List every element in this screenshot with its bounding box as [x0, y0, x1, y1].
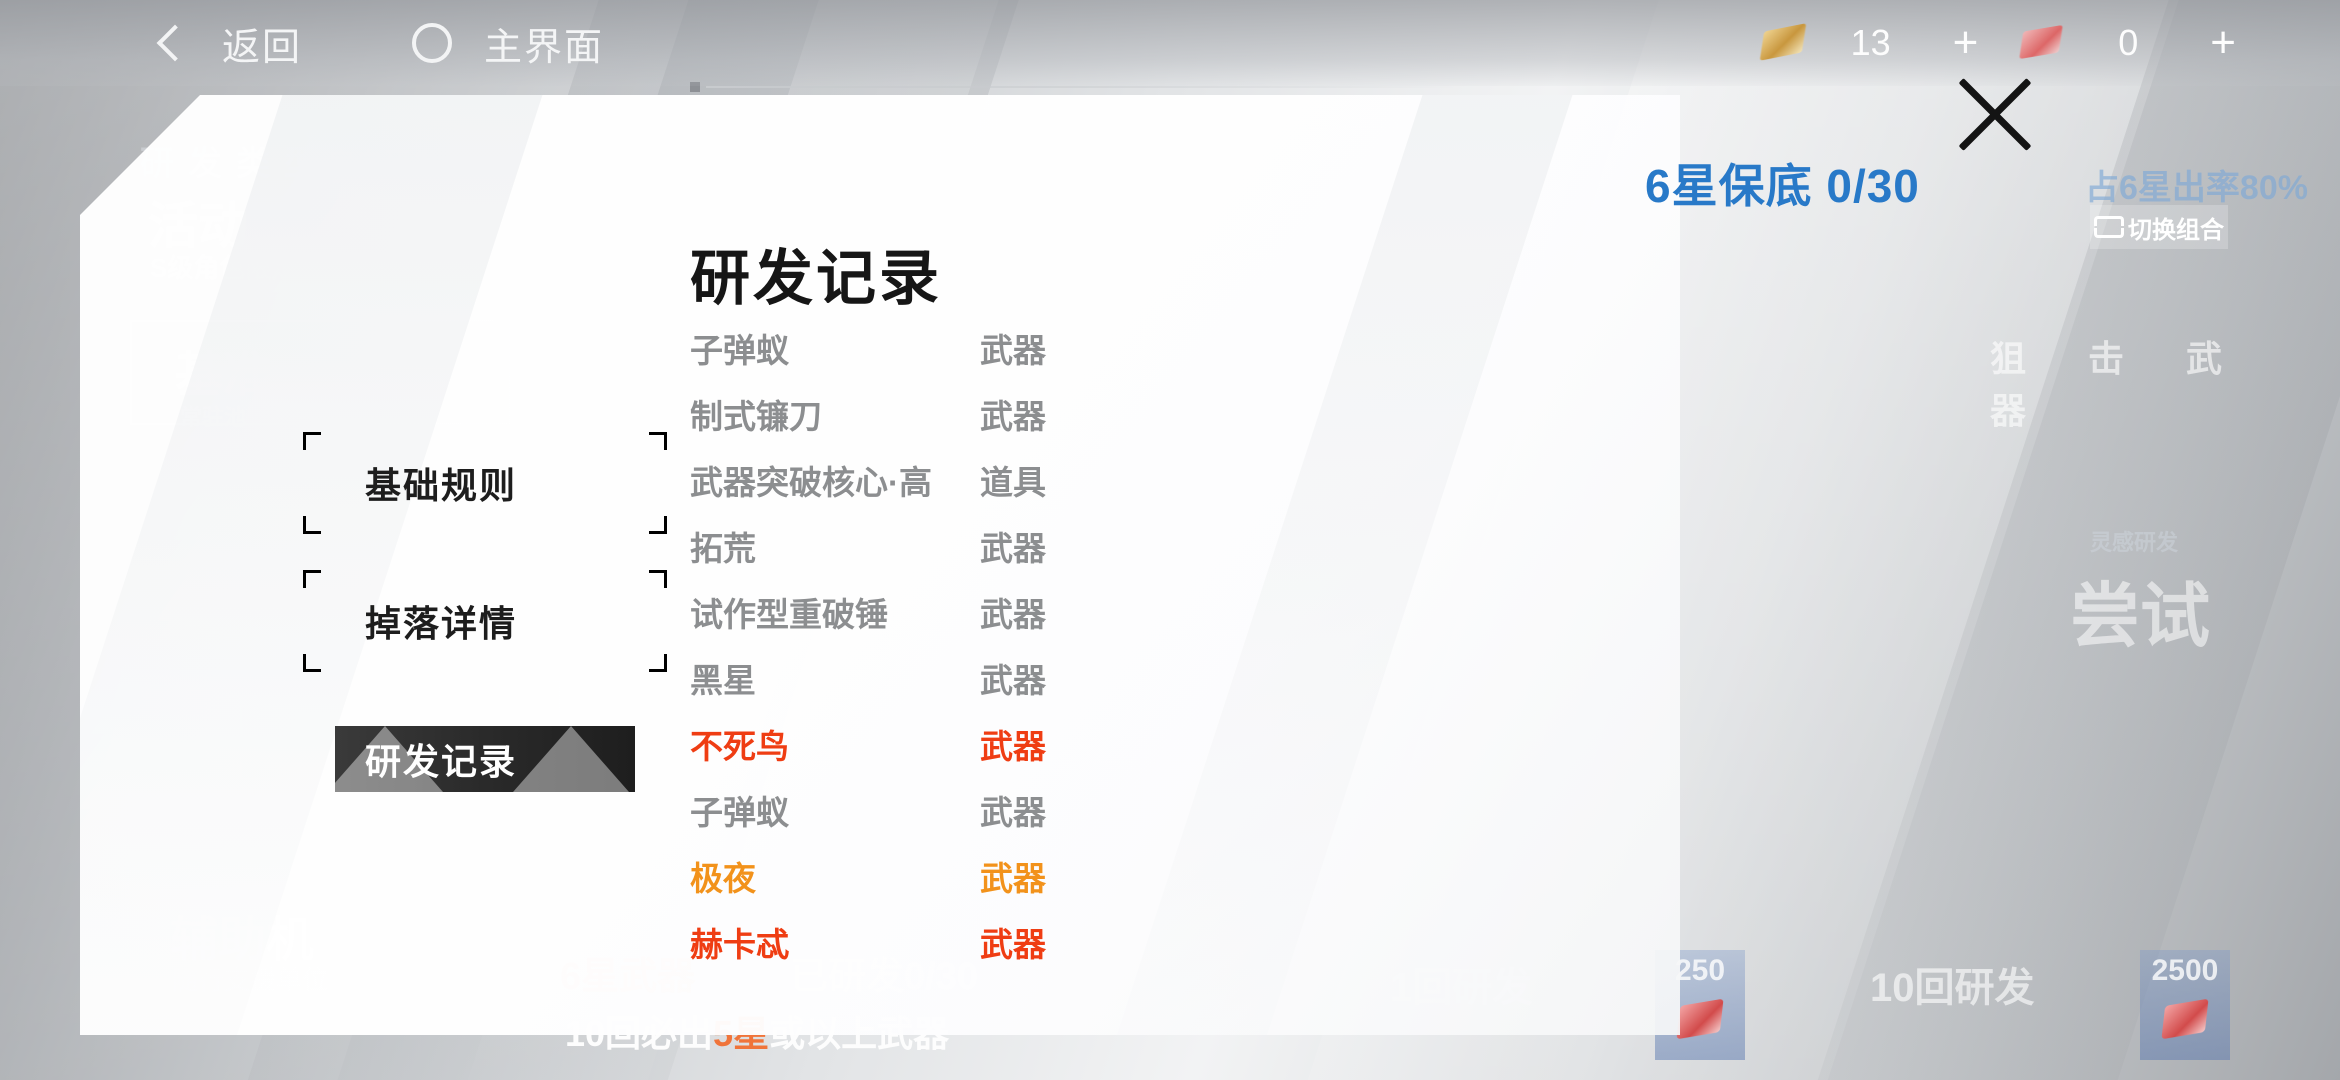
record-name: 试作型重破锤	[690, 588, 980, 636]
tab-triangle-decor	[513, 726, 629, 792]
switch-label: 切换组合	[2128, 210, 2224, 245]
ticket-value: 0	[2068, 22, 2188, 64]
tab-corner	[303, 654, 321, 672]
tab-label: 基础规则	[365, 457, 517, 509]
record-type: 武器	[980, 918, 1250, 966]
dialog-tab-list: 基础规则 掉落详情 研发记录	[335, 450, 635, 864]
tab-basic-rules[interactable]: 基础规则	[335, 450, 635, 516]
develop-ten-cost: 2500	[2140, 950, 2230, 1060]
record-name: 黑星	[690, 654, 980, 702]
record-name: 极夜	[690, 852, 980, 900]
tab-corner	[303, 570, 321, 588]
record-type: 武器	[980, 588, 1250, 636]
try-label: 尝试	[2070, 560, 2210, 661]
tab-corner	[303, 432, 321, 450]
record-name: 子弹蚁	[690, 324, 980, 372]
sniper-weapon-label: 狙 击 武 器	[1990, 330, 2340, 434]
tab-corner	[649, 432, 667, 450]
home-circle-icon[interactable]	[412, 23, 452, 63]
try-sub-label: 灵感研发	[2090, 525, 2178, 557]
back-button[interactable]: 返回	[222, 16, 302, 71]
record-type: 武器	[980, 786, 1250, 834]
switch-icon	[2094, 216, 2120, 238]
record-name: 武器突破核心·高	[690, 456, 980, 504]
record-name: 子弹蚁	[690, 786, 980, 834]
back-chevron-icon[interactable]	[150, 26, 184, 60]
record-name: 拓荒	[690, 522, 980, 570]
tab-corner	[649, 654, 667, 672]
cost-value-10: 2500	[2152, 950, 2219, 988]
six-star-rate-label: 占6星出率80%	[2085, 160, 2308, 209]
record-type: 武器	[980, 390, 1250, 438]
tab-label: 研发记录	[365, 733, 517, 785]
record-type: 道具	[980, 456, 1250, 504]
gem-icon	[2161, 999, 2208, 1040]
record-type: 武器	[980, 522, 1250, 570]
record-name: 赫卡忒	[690, 918, 980, 966]
close-icon[interactable]	[1925, 45, 2065, 185]
decor-line	[706, 86, 1461, 88]
tab-corner	[303, 516, 321, 534]
add-ticket-button[interactable]: +	[2188, 21, 2270, 65]
record-type: 武器	[980, 852, 1250, 900]
game-screen: 研发类型 定向研发 活动 S级角色限定 基准 常驻池 辅助机 随行支援单位 6星…	[0, 0, 2340, 1080]
research-record-dialog: 研发记录 基础规则 掉落详情	[80, 95, 1680, 1035]
tab-drop-details[interactable]: 掉落详情	[335, 588, 635, 654]
home-button[interactable]: 主界面	[484, 16, 604, 71]
page-title: 研发记录	[690, 230, 942, 317]
record-type: 武器	[980, 324, 1250, 372]
gold-value: 13	[1811, 22, 1931, 64]
develop-ten-button[interactable]: 10回研发	[1870, 955, 2035, 1013]
gold-coin-icon	[1755, 19, 1811, 67]
record-type: 武器	[980, 654, 1250, 702]
tab-label: 掉落详情	[365, 595, 517, 647]
tab-corner	[649, 570, 667, 588]
record-type: 武器	[980, 720, 1250, 768]
switch-combination-button[interactable]: 切换组合	[2090, 205, 2228, 249]
gem-icon	[1676, 999, 1723, 1040]
record-name: 不死鸟	[690, 720, 980, 768]
dialog-inner: 研发记录 基础规则 掉落详情	[80, 95, 1680, 1035]
tab-corner	[649, 516, 667, 534]
tab-research-record[interactable]: 研发记录	[335, 726, 635, 792]
topbar-left-group: 返回 主界面	[0, 16, 604, 71]
cost-value-1: 250	[1675, 950, 1725, 988]
record-name: 制式镰刀	[690, 390, 980, 438]
